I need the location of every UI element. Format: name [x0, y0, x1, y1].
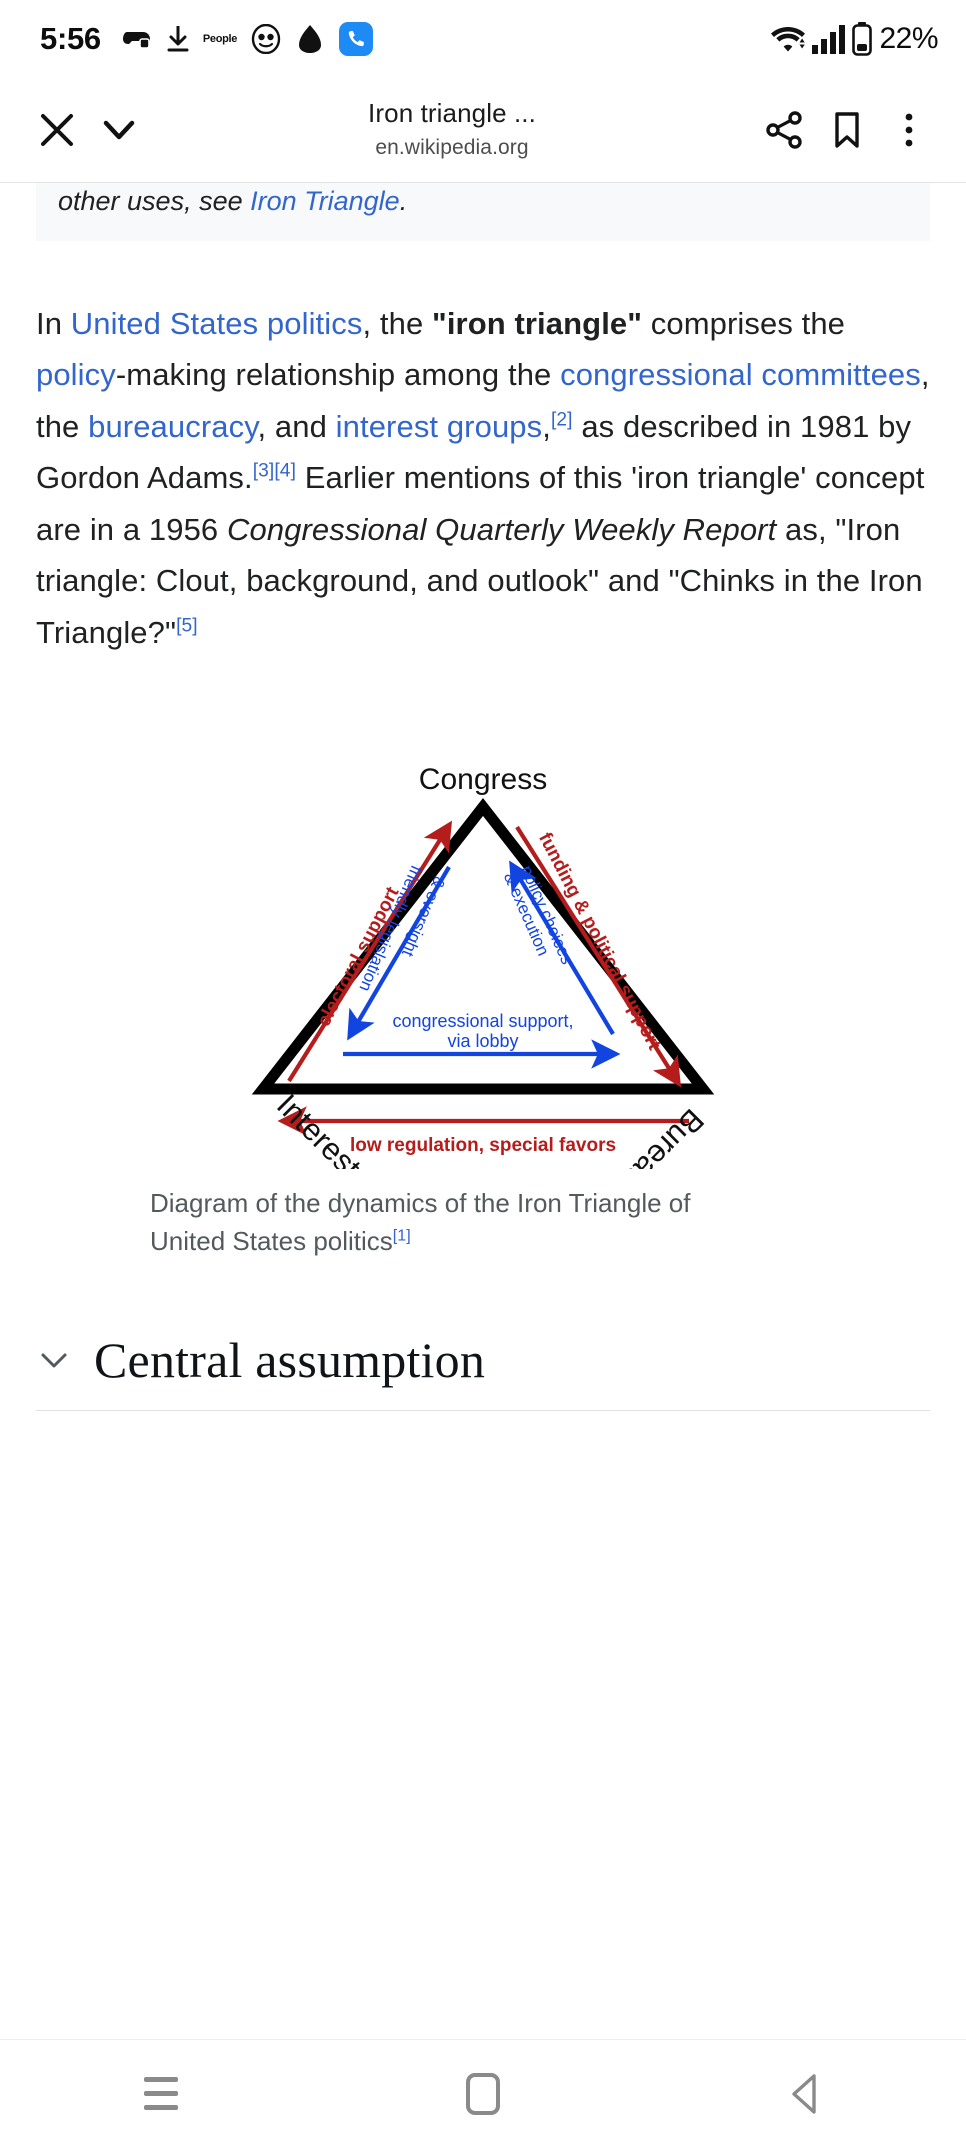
link-united-states-politics[interactable]: United States politics	[71, 306, 363, 341]
link-policy[interactable]: policy	[36, 357, 116, 392]
article-content:   other uses, see Iron Triangle. In Unit…	[0, 183, 966, 2039]
lead-paragraph: In United States politics, the "iron tri…	[0, 272, 966, 658]
game-controller-icon	[123, 26, 153, 52]
share-icon	[764, 109, 806, 151]
reference-5[interactable]: [5]	[176, 615, 198, 636]
status-bar: 5:56 People	[0, 0, 966, 78]
hatnote-prefix: other uses, see	[58, 186, 250, 216]
home-flame-icon	[295, 24, 325, 54]
status-clock: 5:56	[40, 21, 101, 57]
link-bureaucracy[interactable]: bureaucracy	[88, 409, 257, 444]
recents-button[interactable]	[0, 2040, 322, 2147]
back-icon	[785, 2072, 825, 2116]
diagram-image[interactable]: Congress Interest Group Bureaucracy elec…	[0, 689, 966, 1169]
back-button[interactable]	[644, 2040, 966, 2147]
edge-label-congressional-support-2: via lobby	[447, 1031, 518, 1051]
status-system-icons: 22%	[771, 22, 938, 56]
cellular-signal-icon	[812, 24, 845, 54]
overflow-menu-button[interactable]	[878, 99, 940, 161]
link-interest-groups[interactable]: interest groups	[336, 409, 543, 444]
iron-triangle-diagram: Congress Interest Group Bureaucracy elec…	[93, 689, 873, 1169]
browser-toolbar: Iron triangle ... en.wikipedia.org	[0, 78, 966, 183]
download-icon	[167, 26, 189, 53]
battery-icon	[852, 22, 872, 56]
mask-icon	[251, 24, 281, 54]
reference-1[interactable]: [1]	[393, 1226, 411, 1244]
iron-triangle-figure: Congress Interest Group Bureaucracy elec…	[0, 689, 966, 1260]
node-label-bureaucracy: Bureaucracy	[93, 689, 711, 1169]
phone-call-icon	[339, 22, 373, 56]
home-icon	[466, 2073, 500, 2115]
people-icon: People	[203, 34, 237, 45]
home-button[interactable]	[322, 2040, 644, 2147]
share-button[interactable]	[754, 99, 816, 161]
term-iron-triangle: "iron triangle"	[432, 306, 642, 341]
chevron-down-icon[interactable]	[36, 1342, 72, 1378]
system-navigation-bar	[0, 2039, 966, 2147]
edge-label-low-regulation: low regulation, special favors	[350, 1135, 616, 1156]
hatnote-link[interactable]: Iron Triangle	[250, 186, 400, 216]
phone-screen: 5:56 People	[0, 0, 966, 2147]
close-button[interactable]	[26, 99, 88, 161]
bookmark-button[interactable]	[816, 99, 878, 161]
status-notification-icons: People	[123, 22, 373, 56]
bookmark-icon	[826, 109, 868, 151]
battery-percent: 22%	[879, 22, 938, 56]
reference-4[interactable]: [4]	[274, 461, 296, 482]
expand-button[interactable]	[88, 99, 150, 161]
close-icon	[37, 110, 77, 150]
edge-label-congressional-support: congressional support,	[392, 1011, 573, 1031]
recent-apps-icon	[144, 2077, 178, 2110]
chevron-down-icon	[98, 109, 140, 151]
lead-t7: ,	[542, 409, 551, 444]
section-heading-central-assumption[interactable]: Central assumption	[36, 1333, 930, 1411]
lead-t3: comprises the	[642, 306, 845, 341]
reference-3[interactable]: [3]	[253, 461, 275, 482]
page-title-compact: Iron triangle ...	[368, 98, 536, 129]
wifi-icon	[771, 24, 805, 54]
lead-t2: , the	[362, 306, 432, 341]
hatnote:   other uses, see Iron Triangle.	[36, 183, 930, 241]
node-label-congress: Congress	[419, 763, 547, 796]
edge-label-electoral-support: electoral support	[313, 883, 403, 1030]
figure-caption-text: Diagram of the dynamics of the Iron Tria…	[150, 1188, 691, 1256]
page-url: en.wikipedia.org	[375, 136, 528, 160]
section-title: Central assumption	[94, 1333, 485, 1388]
journal-title: Congressional Quarterly Weekly Report	[227, 512, 776, 547]
lead-t6: , and	[258, 409, 336, 444]
lead-t1: In	[36, 306, 71, 341]
node-label-interest-group: Interest Group	[93, 689, 374, 1169]
reference-2[interactable]: [2]	[551, 410, 573, 431]
address-display[interactable]: Iron triangle ... en.wikipedia.org	[150, 98, 754, 160]
hatnote-suffix: .	[400, 186, 408, 216]
figure-caption: Diagram of the dynamics of the Iron Tria…	[36, 1185, 736, 1260]
link-congressional-committees[interactable]: congressional committees	[560, 357, 921, 392]
lead-t4: -making relationship among the	[116, 357, 560, 392]
more-options-icon	[888, 109, 930, 151]
